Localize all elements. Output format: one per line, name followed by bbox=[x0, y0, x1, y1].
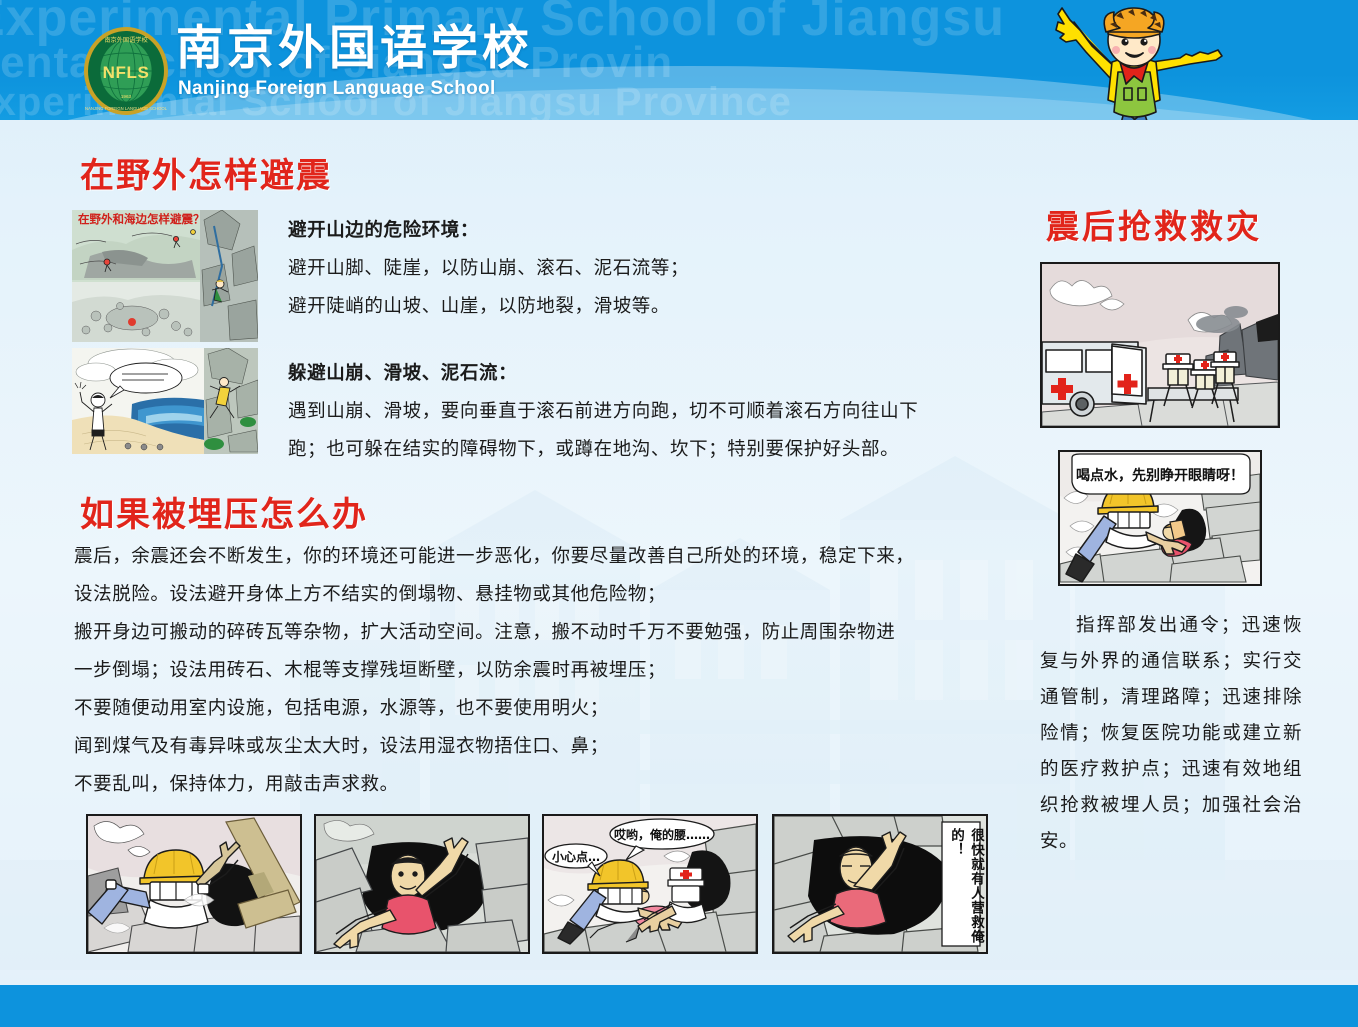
svg-text:NANJING FOREIGN LANGUAGE SCHOO: NANJING FOREIGN LANGUAGE SCHOOL bbox=[85, 106, 168, 111]
figure-outdoor-seaside-cartoon: 在野外和海边怎样避震？ bbox=[72, 210, 258, 342]
figure-give-water-to-victim: 喝点水，先别睁开眼睛呀！ bbox=[1058, 450, 1262, 586]
nfls-logo: NFLS 南京外国语学校 1963 NANJING FOREIGN LANGUA… bbox=[82, 26, 170, 116]
outdoor-seaside-cartoon-graphic: 在野外和海边怎样避震？ bbox=[72, 210, 258, 342]
give-water-to-victim-graphic: 喝点水，先别睁开眼睛呀！ bbox=[1060, 452, 1260, 584]
rescue-carry-victim-graphic: 哎哟，俺的腰…… 小心点… bbox=[544, 816, 756, 952]
buried-line-7: 不要乱叫，保持体力，用敲击声求救。 bbox=[74, 766, 1019, 804]
figure-waiting-for-rescue: 很快就有人营救俺的！ bbox=[772, 814, 988, 954]
buried-line-4: 一步倒塌；设法用砖石、木棍等支撑残垣断壁，以防余震时再被埋压； bbox=[74, 652, 1019, 690]
vertical-bubble-text: 很快就有人营救俺的！ bbox=[946, 828, 986, 946]
buried-paragraph: 震后，余震还会不断发生，你的环境还可能进一步恶化，你要尽量改善自己所处的环境，稳… bbox=[74, 538, 1019, 804]
school-name-cn: 南京外国语学校 bbox=[176, 24, 533, 73]
outdoor-block-2-title: 躲避山崩、滑坡、泥石流： bbox=[288, 355, 1008, 393]
section-heading-post-quake: 震后抢救救灾 bbox=[1046, 200, 1262, 248]
bubble-give-water-text: 喝点水，先别睁开眼睛呀！ bbox=[1076, 467, 1244, 484]
svg-text:南京外国语学校: 南京外国语学校 bbox=[104, 36, 147, 44]
section-heading-buried: 如果被埋压怎么办 bbox=[80, 487, 368, 536]
ambulance-rescue-team-graphic bbox=[1042, 264, 1278, 426]
post-quake-paragraph: 指挥部发出通令；迅速恢复与外界的通信联系；实行交通管制，清理路障；迅速排除险情；… bbox=[1040, 608, 1302, 860]
earthquake-safety-poster: Experimental Primary School of Jiangsu m… bbox=[0, 0, 1358, 1027]
outdoor-block-2-line-2: 跑；也可躲在结实的障碍物下，或蹲在地沟、坎下；特别要保护好头部。 bbox=[288, 431, 1008, 469]
buried-line-2: 设法脱险。设法避开身体上方不结实的倒塌物、悬挂物或其他危险物； bbox=[74, 576, 1019, 614]
figure-ambulance-rescue-team bbox=[1040, 262, 1280, 428]
outdoor-block-1-title: 避开山边的危险环境： bbox=[288, 212, 1008, 250]
svg-text:1963: 1963 bbox=[121, 94, 132, 99]
trapped-man-rubble-graphic bbox=[316, 816, 528, 952]
bubble-1-text: 哎哟，俺的腰…… bbox=[614, 827, 710, 842]
beach-tsunami-cartoon-graphic bbox=[72, 348, 258, 454]
outdoor-block-1: 避开山边的危险环境： 避开山脚、陡崖，以防山崩、滚石、泥石流等； 避开陡峭的山坡… bbox=[288, 212, 1008, 326]
buried-line-6: 闻到煤气及有毒异味或灰尘太大时，设法用湿衣物捂住口、鼻； bbox=[74, 728, 1019, 766]
outdoor-block-2: 躲避山崩、滑坡、泥石流： 遇到山崩、滑坡，要向垂直于滚石前进方向跑，切不可顺着滚… bbox=[288, 355, 1008, 469]
buried-line-5: 不要随便动用室内设施，包括电源，水源等，也不要使用明火； bbox=[74, 690, 1019, 728]
poster-footer-bar bbox=[0, 985, 1358, 1027]
figure-trapped-man-rubble bbox=[314, 814, 530, 954]
outdoor-block-1-line-2: 避开陡峭的山坡、山崖，以防地裂，滑坡等。 bbox=[288, 288, 1008, 326]
poster-header: Experimental Primary School of Jiangsu m… bbox=[0, 0, 1358, 120]
buried-line-3: 搬开身边可搬动的碎砖瓦等杂物，扩大活动空间。注意，搬不动时千万不要勉强，防止周围… bbox=[74, 614, 1019, 652]
bubble-2-text: 小心点… bbox=[552, 849, 600, 864]
figure-beach-tsunami-cartoon bbox=[72, 348, 258, 454]
section-heading-outdoor: 在野外怎样避震 bbox=[80, 148, 332, 197]
svg-text:NFLS: NFLS bbox=[103, 63, 150, 82]
school-name-en: Nanjing Foreign Language School bbox=[178, 78, 496, 100]
figure1-title: 在野外和海边怎样避震？ bbox=[78, 212, 205, 226]
figure-rescuer-in-rubble bbox=[86, 814, 302, 954]
tiger-hat-boy-mascot-icon bbox=[1040, 0, 1225, 120]
rescuer-in-rubble-graphic bbox=[88, 816, 300, 952]
outdoor-block-2-line-1: 遇到山崩、滑坡，要向垂直于滚石前进方向跑，切不可顺着滚石方向往山下 bbox=[288, 393, 1008, 431]
outdoor-block-1-line-1: 避开山脚、陡崖，以防山崩、滚石、泥石流等； bbox=[288, 250, 1008, 288]
buried-line-1: 震后，余震还会不断发生，你的环境还可能进一步恶化，你要尽量改善自己所处的环境，稳… bbox=[74, 538, 1019, 576]
figure-rescue-carry-victim: 哎哟，俺的腰…… 小心点… bbox=[542, 814, 758, 954]
